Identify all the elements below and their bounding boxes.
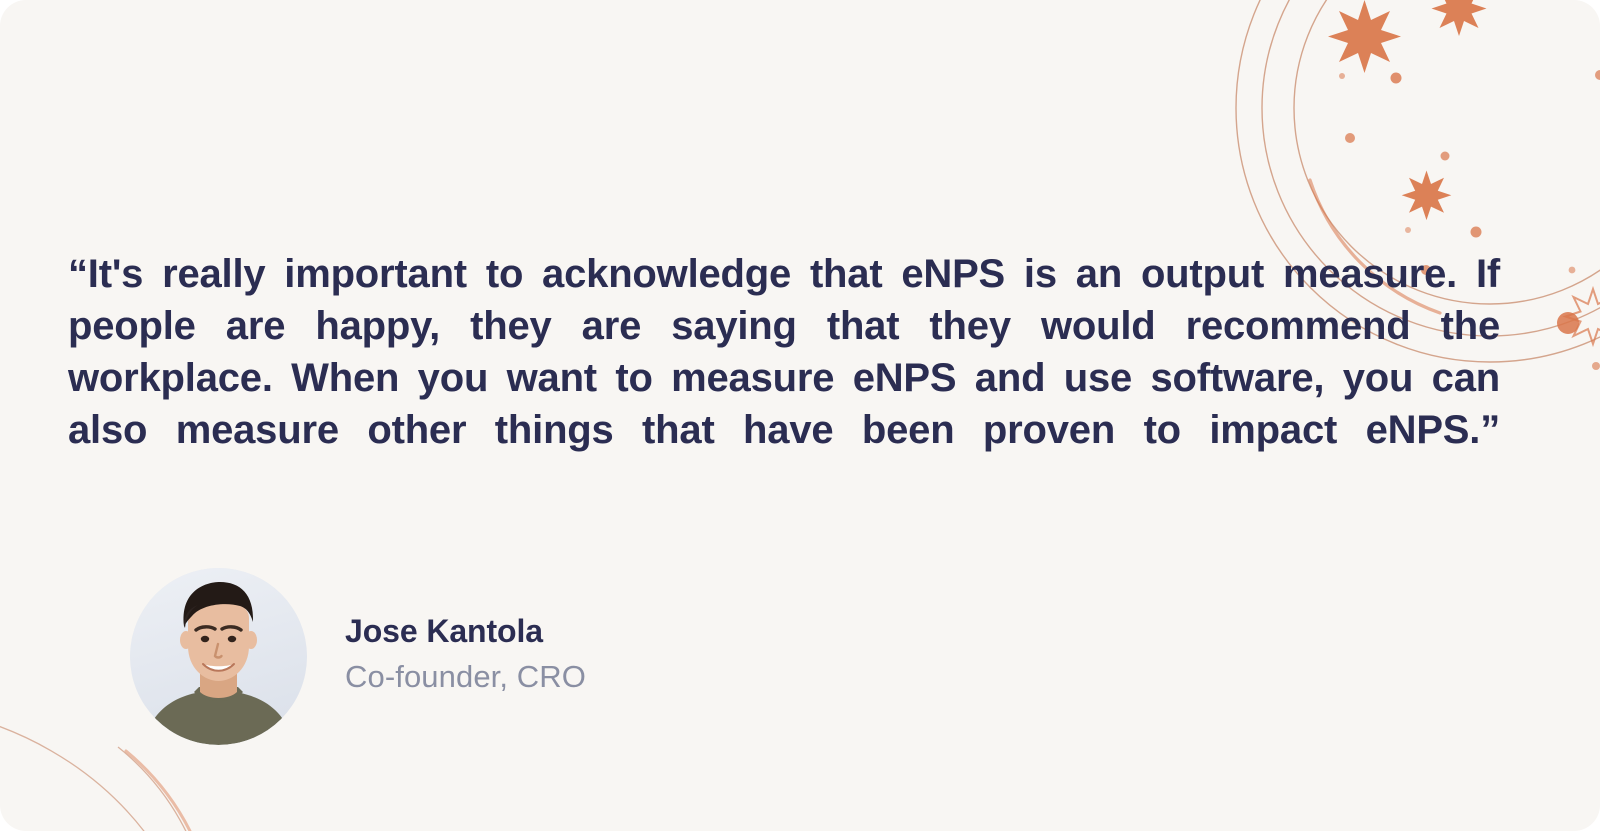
person-role: Co-founder, CRO — [345, 657, 586, 697]
person-name: Jose Kantola — [345, 611, 586, 651]
quote-block: “It's really important to acknowledge th… — [68, 248, 1500, 508]
quote-text: “It's really important to acknowledge th… — [68, 248, 1500, 508]
attribution: Jose Kantola Co-founder, CRO — [130, 568, 586, 745]
testimonial-card: “It's really important to acknowledge th… — [0, 0, 1600, 831]
person-photo-avatar-icon — [130, 568, 307, 745]
avatar — [130, 568, 307, 745]
person-details: Jose Kantola Co-founder, CRO — [345, 611, 586, 701]
